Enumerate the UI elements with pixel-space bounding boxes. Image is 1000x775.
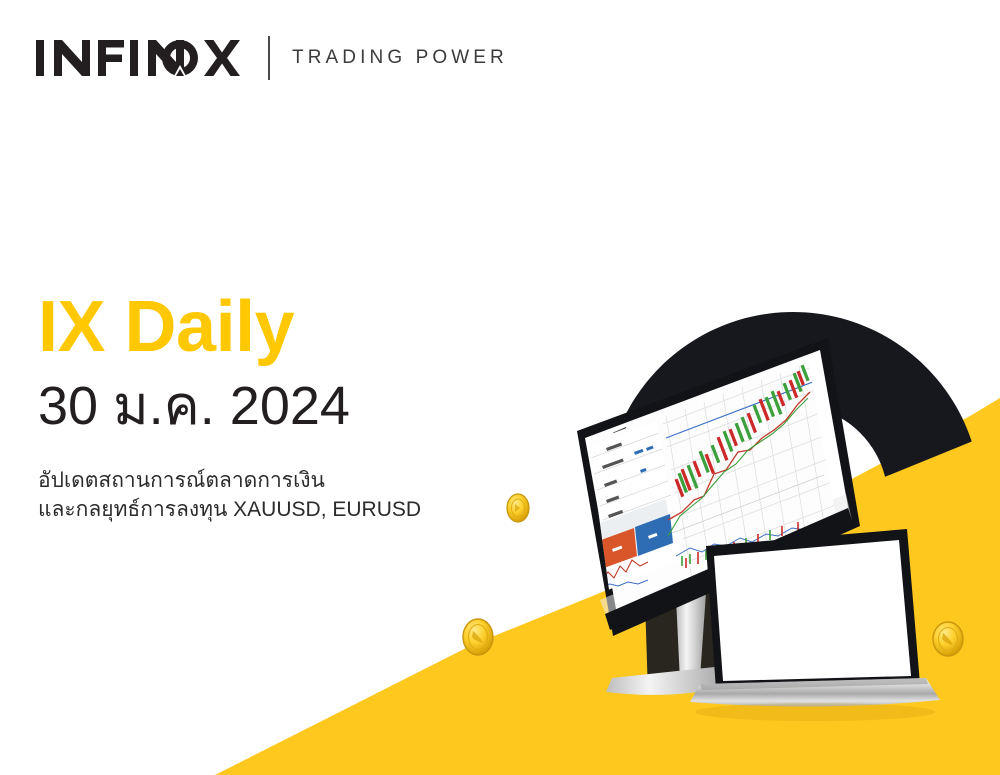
infinox-logo-mark (36, 36, 244, 80)
page-title: IX Daily (38, 292, 508, 363)
logo-divider (268, 36, 270, 80)
ix-daily-banner: TRADING POWER IX Daily 30 ม.ค. 2024 อัปเ… (0, 0, 1000, 775)
issue-date: 30 ม.ค. 2024 (38, 375, 508, 437)
brand-logo: TRADING POWER (36, 34, 508, 82)
subtitle: อัปเดตสถานการณ์ตลาดการเงิน และกลยุทธ์การ… (38, 467, 508, 525)
infinox-wordmark-icon (36, 36, 244, 80)
subtitle-line-1: อัปเดตสถานการณ์ตลาดการเงิน (38, 467, 508, 496)
logo-tagline: TRADING POWER (292, 47, 508, 69)
subtitle-line-2: และกลยุทธ์การลงทุน XAUUSD, EURUSD (38, 496, 508, 525)
headline-block: IX Daily 30 ม.ค. 2024 อัปเดตสถานการณ์ตลา… (38, 292, 508, 525)
